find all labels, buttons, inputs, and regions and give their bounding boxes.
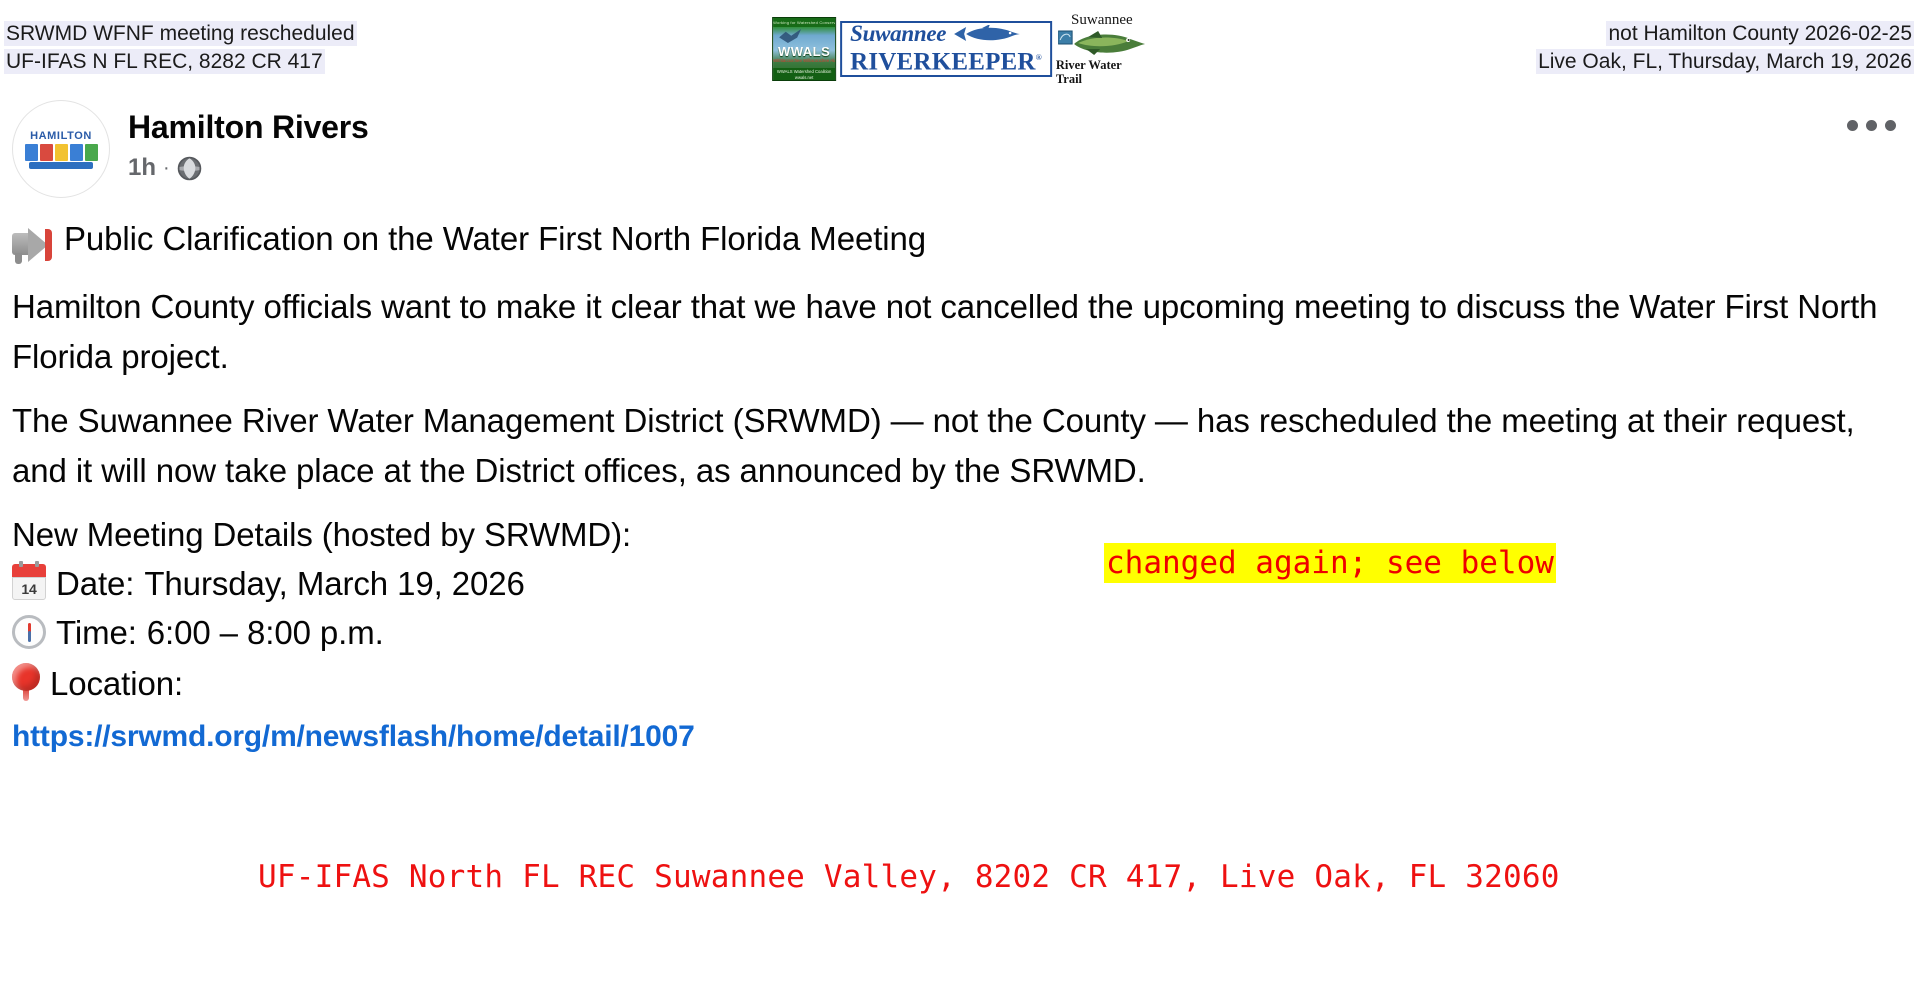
- post-header: HAMILTON Hamilton Rivers 1h ·: [12, 88, 1908, 198]
- meeting-details: New Meeting Details (hosted by SRWMD): 1…: [12, 510, 1908, 708]
- header-right-line-1: not Hamilton County 2026-02-25: [1536, 20, 1914, 48]
- post-body: Public Clarification on the Water First …: [12, 214, 1908, 754]
- riverkeeper-wordmark: Suwannee RIVERKEEPER®: [840, 21, 1052, 77]
- post-timestamp[interactable]: 1h: [128, 154, 156, 182]
- bass-fish-icon: [1058, 28, 1146, 58]
- post-headline: Public Clarification on the Water First …: [12, 214, 1908, 264]
- header-left-line-2: UF-IFAS N FL REC, 8282 CR 417: [4, 48, 357, 76]
- detail-row-location: Location:: [12, 657, 1908, 708]
- annotation-location-override: UF-IFAS North FL REC Suwannee Valley, 82…: [258, 856, 1560, 898]
- megaphone-icon: [12, 228, 56, 262]
- wwals-logo-icon: Working for Watershed Conservation WWALS…: [772, 17, 836, 81]
- page-header: SRWMD WFNF meeting rescheduled UF-IFAS N…: [0, 0, 1920, 88]
- detail-row-date: 14 Date: Thursday, March 19, 2026: [12, 559, 1908, 608]
- meeting-details-title: New Meeting Details (hosted by SRWMD):: [12, 510, 1908, 559]
- wwals-bottom-text: WWALS Watershed Coalition wwals.net: [773, 68, 835, 80]
- detail-label-date: Date:: [56, 559, 134, 608]
- calendar-icon: 14: [12, 564, 46, 600]
- detail-label-time: Time:: [56, 608, 137, 657]
- clock-icon: [12, 615, 46, 649]
- avatar-label: HAMILTON: [30, 130, 92, 142]
- post-link[interactable]: https://srwmd.org/m/newsflash/home/detai…: [12, 720, 695, 754]
- post-headline-text: Public Clarification on the Water First …: [64, 220, 926, 257]
- avatar-color-blocks: [25, 144, 98, 161]
- meta-separator: ·: [163, 154, 170, 182]
- trail-bottom-text: River Water Trail: [1056, 58, 1148, 86]
- riverkeeper-word-riverkeeper: RIVERKEEPER®: [850, 45, 1042, 74]
- wwals-bird-icon: [779, 29, 801, 43]
- globe-icon[interactable]: [177, 156, 202, 181]
- header-right-text: not Hamilton County 2026-02-25 Live Oak,…: [1536, 20, 1914, 76]
- detail-value-date: Thursday, March 19, 2026: [144, 559, 524, 608]
- suwannee-riverkeeper-logo: Working for Watershed Conservation WWALS…: [772, 16, 1148, 82]
- post-author-name[interactable]: Hamilton Rivers: [128, 108, 369, 146]
- header-left-line-1: SRWMD WFNF meeting rescheduled: [4, 20, 357, 48]
- post-paragraph-1: Hamilton County officials want to make i…: [12, 282, 1908, 382]
- detail-label-location: Location:: [50, 659, 183, 708]
- detail-row-time: Time: 6:00 – 8:00 p.m.: [12, 608, 1908, 657]
- post-meta: 1h ·: [128, 154, 369, 182]
- river-water-trail-logo: Suwannee River Water Trail: [1056, 12, 1148, 86]
- riverkeeper-word-suwannee: Suwannee: [850, 22, 946, 45]
- registered-mark: ®: [1036, 53, 1042, 62]
- wwals-name: WWALS: [773, 44, 835, 59]
- post-paragraph-2: The Suwannee River Water Management Dist…: [12, 396, 1908, 496]
- avatar[interactable]: HAMILTON: [12, 100, 110, 198]
- wwals-top-text: Working for Watershed Conservation: [773, 18, 835, 27]
- more-options-icon[interactable]: [1847, 120, 1896, 131]
- calendar-day-number: 14: [12, 577, 46, 600]
- post-author-block: Hamilton Rivers 1h ·: [128, 100, 369, 182]
- social-post: HAMILTON Hamilton Rivers 1h ·: [0, 88, 1920, 754]
- avatar-base-bar: [29, 162, 93, 169]
- fish-icon: [952, 25, 1022, 43]
- wwals-sub-text: Withlacoochee Willacoochee Alapaha Littl…: [773, 58, 835, 63]
- detail-value-time: 6:00 – 8:00 p.m.: [147, 608, 384, 657]
- trail-top-text: Suwannee: [1071, 12, 1133, 28]
- annotation-changed-again: changed again; see below: [1104, 543, 1556, 583]
- map-pin-icon: [12, 663, 40, 701]
- header-left-text: SRWMD WFNF meeting rescheduled UF-IFAS N…: [4, 20, 357, 76]
- header-right-line-2: Live Oak, FL, Thursday, March 19, 2026: [1536, 48, 1914, 76]
